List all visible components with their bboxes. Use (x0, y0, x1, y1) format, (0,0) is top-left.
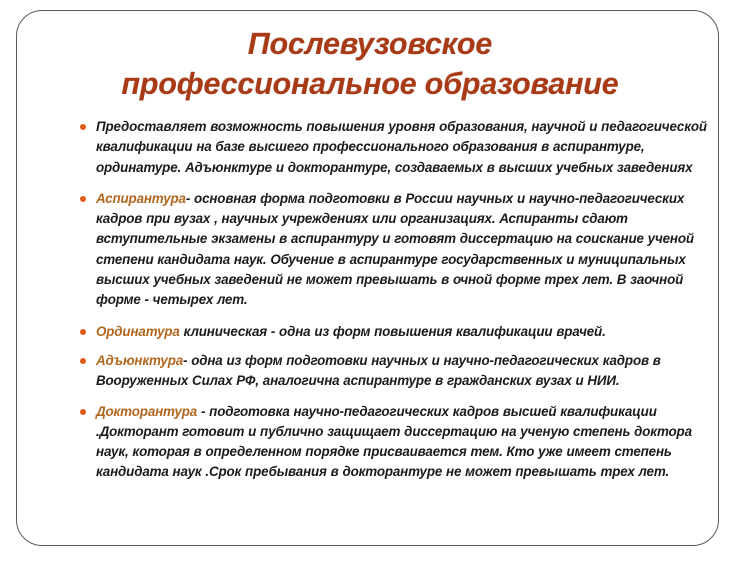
bullet-dot-icon (80, 124, 86, 130)
bullet-dot-icon (80, 409, 86, 415)
list-item-text: Предоставляет возможность повышения уров… (96, 119, 707, 175)
bullet-dot-icon (80, 358, 86, 364)
list-item-body: Докторантура - подготовка научно-педагог… (96, 402, 714, 483)
list-item: Предоставляет возможность повышения уров… (76, 117, 714, 178)
list-item-term: Докторантура (96, 404, 197, 419)
bullet-dot-icon (80, 196, 86, 202)
page-title: Послевузовское профессиональное образова… (30, 24, 710, 104)
list-item: Докторантура - подготовка научно-педагог… (76, 402, 714, 483)
bullet-dot-icon (80, 329, 86, 335)
bullet-list: Предоставляет возможность повышения уров… (76, 117, 714, 492)
list-item-text: - основная форма подготовки в России нау… (96, 191, 694, 307)
list-item-term: Аспирантура (96, 191, 186, 206)
list-item: Ординатура клиническая - одна из форм по… (76, 322, 714, 342)
list-item-body: Адъюнктура- одна из форм подготовки науч… (96, 351, 714, 392)
list-item-term: Адъюнктура (96, 353, 183, 368)
list-item-term: Ординатура (96, 324, 180, 339)
list-item: Аспирантура- основная форма подготовки в… (76, 189, 714, 311)
list-item: Адъюнктура- одна из форм подготовки науч… (76, 351, 714, 392)
list-item-body: Предоставляет возможность повышения уров… (96, 117, 714, 178)
list-item-body: Ординатура клиническая - одна из форм по… (96, 322, 714, 342)
presentation-slide: Послевузовское профессиональное образова… (0, 0, 750, 562)
list-item-body: Аспирантура- основная форма подготовки в… (96, 189, 714, 311)
list-item-text: клиническая - одна из форм повышения ква… (180, 324, 606, 339)
